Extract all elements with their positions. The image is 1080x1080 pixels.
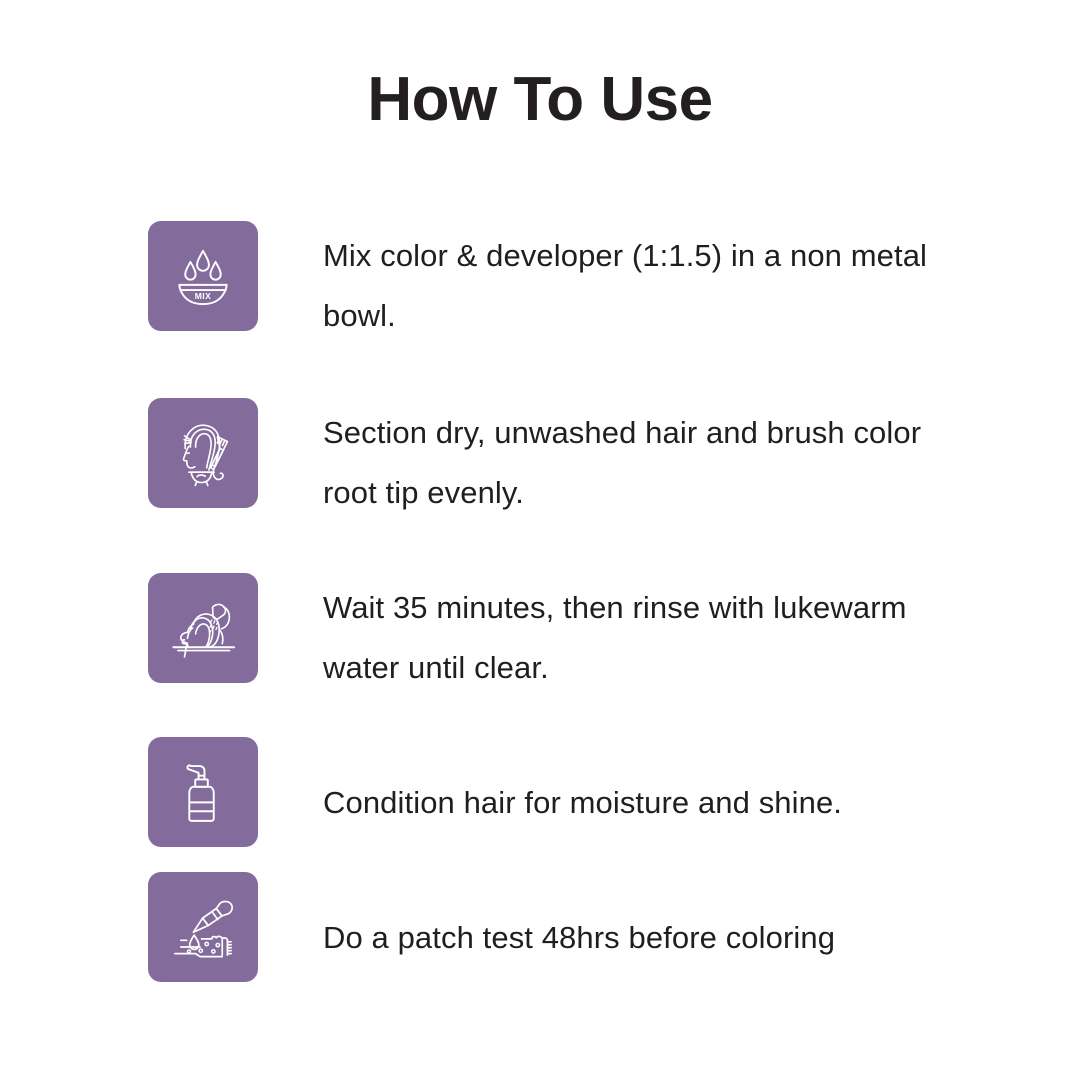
steps-list: MIX Mix color & developer (1:1.5) in a n…	[148, 221, 1028, 982]
list-item-text: Section dry, unwashed hair and brush col…	[258, 403, 958, 522]
step-icon-tile	[148, 573, 258, 683]
list-item-text: Condition hair for moisture and shine.	[258, 773, 1018, 833]
step-icon-tile: MIX	[148, 221, 258, 331]
list-item-text: Do a patch test 48hrs before coloring	[258, 908, 1018, 968]
hair-rinse-shower-icon	[166, 591, 240, 665]
how-to-use-infographic: How To Use MIX M	[0, 0, 1080, 1080]
mixing-bowl-icon: MIX	[166, 239, 240, 313]
step-icon-tile	[148, 737, 258, 847]
step-icon-tile	[148, 398, 258, 508]
page-title: How To Use	[0, 66, 1080, 134]
list-item: Do a patch test 48hrs before coloring	[148, 872, 1028, 982]
step-icon-tile	[148, 872, 258, 982]
list-item: MIX Mix color & developer (1:1.5) in a n…	[148, 221, 1028, 398]
hair-brush-application-icon	[166, 416, 240, 490]
list-item: Condition hair for moisture and shine.	[148, 737, 1028, 872]
list-item: Wait 35 minutes, then rinse with lukewar…	[148, 573, 1028, 737]
dropper-patch-test-icon	[166, 890, 240, 964]
conditioner-pump-bottle-icon	[166, 755, 240, 829]
mix-label: MIX	[195, 291, 211, 301]
list-item: Section dry, unwashed hair and brush col…	[148, 398, 1028, 573]
list-item-text: Mix color & developer (1:1.5) in a non m…	[258, 226, 958, 345]
list-item-text: Wait 35 minutes, then rinse with lukewar…	[258, 578, 958, 697]
